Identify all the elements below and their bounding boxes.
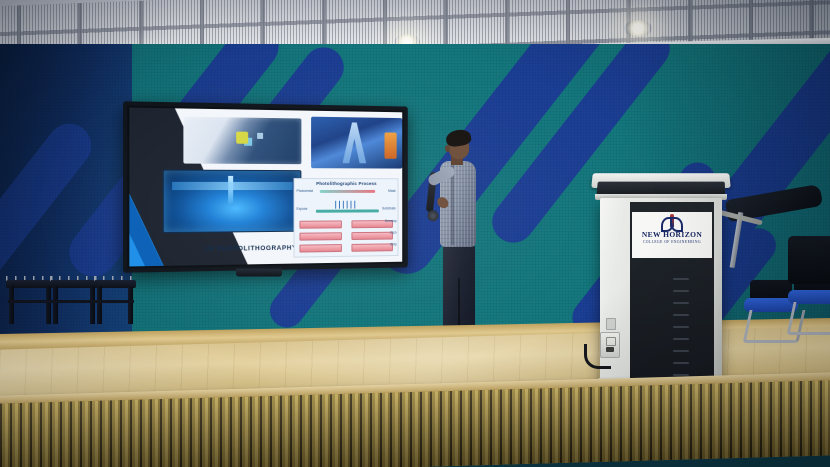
- podium-slot: [673, 302, 689, 304]
- podium-control-button[interactable]: [606, 318, 616, 330]
- stool-rail: [96, 300, 134, 303]
- podium-slot: [673, 350, 689, 352]
- stool-leg: [9, 286, 14, 324]
- podium-front-panel: NEW HORIZON COLLEGE OF ENGINEERING: [630, 202, 714, 378]
- microphone-head: [427, 210, 439, 222]
- chair-sled-legs: [786, 302, 830, 335]
- podium-slot: [673, 278, 689, 280]
- stool-leg: [128, 286, 133, 324]
- stool-rail: [8, 300, 52, 303]
- institution-subtitle: COLLEGE OF ENGINEERING: [643, 240, 701, 244]
- power-cable: [584, 344, 611, 369]
- display-wall-mount: [236, 269, 282, 277]
- stool-rail: [52, 300, 96, 303]
- stool-leg: [53, 286, 58, 324]
- chair-backrest: [788, 236, 830, 284]
- podium-slot: [673, 338, 689, 340]
- institution-plaque: NEW HORIZON COLLEGE OF ENGINEERING: [632, 212, 712, 258]
- auditorium-scene: UV PHOTOLITHOGRAPHY Photolithographic Pr…: [0, 0, 830, 467]
- stool-2[interactable]: [50, 280, 98, 326]
- stool-leg: [97, 286, 102, 324]
- podium-slot: [673, 314, 689, 316]
- stool-3[interactable]: [94, 280, 136, 326]
- display-bezel: [123, 101, 408, 273]
- tablet-arm-chair[interactable]: [726, 188, 830, 288]
- presenter-ear: [445, 145, 450, 152]
- institution-name: NEW HORIZON: [642, 231, 702, 239]
- podium-slot: [673, 362, 689, 364]
- presentation-display[interactable]: UV PHOTOLITHOGRAPHY Photolithographic Pr…: [123, 101, 408, 273]
- stool-1[interactable]: [6, 280, 54, 326]
- laurel-right-icon: [670, 217, 683, 232]
- podium-vent-slots: [662, 268, 700, 376]
- podium-slot: [673, 290, 689, 292]
- downlight-right: [624, 20, 652, 37]
- podium-slot: [673, 326, 689, 328]
- torch-and-laurel-emblem: [661, 214, 683, 230]
